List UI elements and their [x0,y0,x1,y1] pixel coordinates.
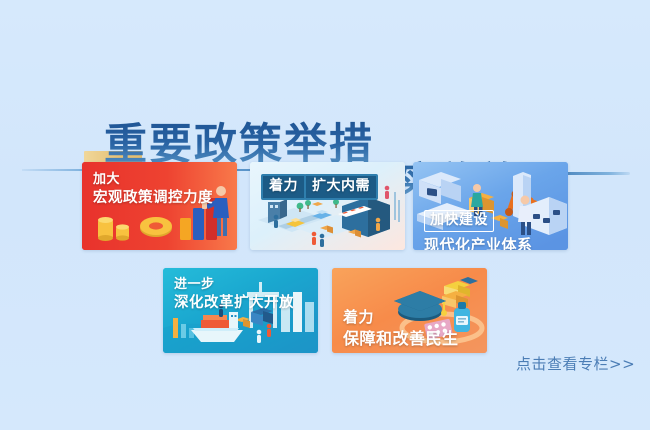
card3-caption: 加快建设 现代化产业体系 [424,209,533,250]
card2-line1: 着力 [261,174,306,200]
title-block: 重要政策举措 及实施效果 [0,52,650,147]
card4-caption: 进一步 深化改革扩大开放 [174,277,294,312]
policy-card-domestic-demand[interactable]: 着力扩大内需 [250,162,405,250]
card3-line1: 加快建设 [424,210,494,232]
policy-card-modern-industry[interactable]: 加快建设 现代化产业体系 [413,162,568,250]
card1-caption: 加大 宏观政策调控力度 [93,172,213,207]
title-rule-right [560,172,630,175]
policy-card-reform-opening[interactable]: 进一步 深化改革扩大开放 [163,268,318,353]
banner-stage: 重要政策举措 及实施效果 [0,0,650,430]
policy-card-peoples-livelihood[interactable]: 着力 保障和改善民生 [332,268,487,353]
card4-line2: 深化改革扩大开放 [174,294,294,313]
card3-line2: 现代化产业体系 [424,236,533,250]
card5-line1: 着力 [343,308,459,327]
card2-caption: 着力扩大内需 [261,174,378,200]
card5-line2: 保障和改善民生 [343,329,459,349]
card2-line2: 扩大内需 [304,174,378,200]
view-column-link[interactable]: 点击查看专栏>> [516,353,635,374]
policy-card-macro-control[interactable]: 加大 宏观政策调控力度 [82,162,237,250]
card5-caption: 着力 保障和改善民生 [343,308,459,350]
card4-line1: 进一步 [174,277,294,294]
card1-line1: 加大 [93,172,213,189]
card1-line2: 宏观政策调控力度 [93,189,213,208]
